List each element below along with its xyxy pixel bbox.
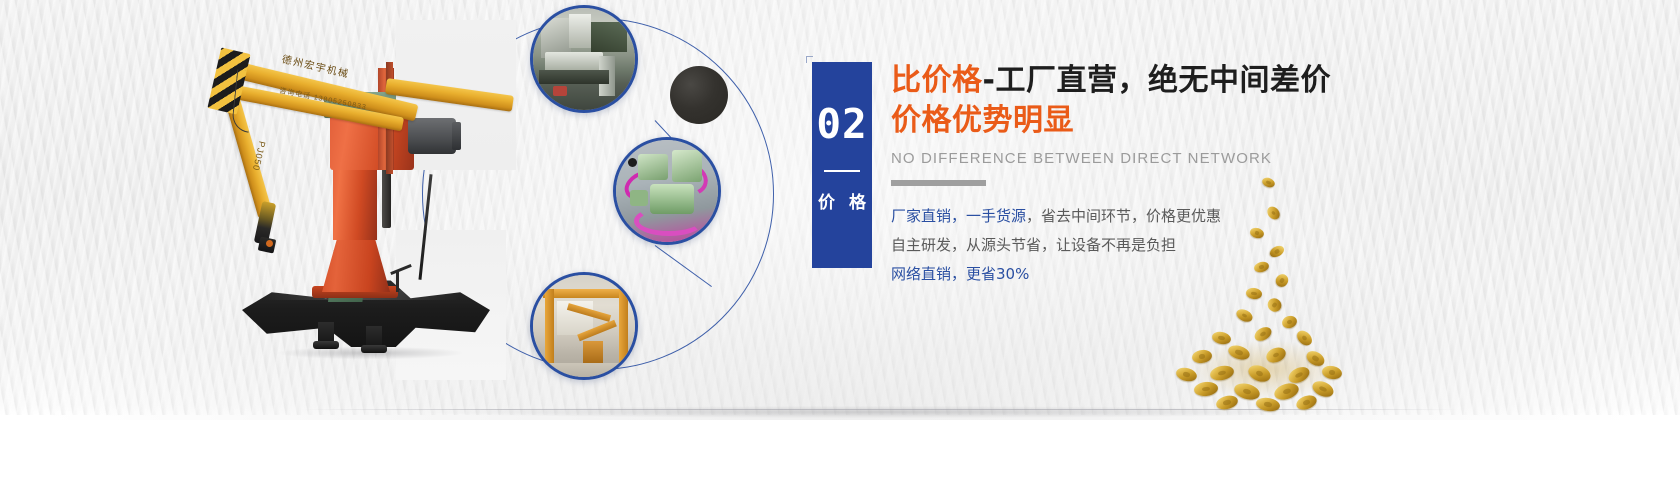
- gantry-beam: [543, 289, 631, 298]
- benefit-line: 厂家直销，一手货源，省去中间环节，价格更优惠: [891, 202, 1511, 231]
- lever-handle: [390, 264, 412, 275]
- benefit-blue-part: 网络直销，更省30%: [891, 265, 1029, 283]
- photo-bubble-installation: [530, 272, 638, 380]
- machine-part: [591, 22, 627, 52]
- photo-bubble-workshop: [530, 5, 638, 113]
- hose-part: [634, 206, 704, 236]
- gold-coin: [1245, 287, 1262, 300]
- valve-knob: [628, 158, 637, 167]
- valve-part: [672, 150, 702, 182]
- drive-motor: [408, 118, 456, 154]
- support-rod: [418, 174, 432, 280]
- benefit-line: 自主研发，从源头节省，让设备不再是负担: [891, 231, 1511, 260]
- crane-head: [583, 341, 603, 363]
- product-scene: 德州宏宇机械 咨询电话 13805250833 PJ050: [200, 0, 760, 420]
- valve-part: [630, 190, 648, 206]
- motor-cap: [452, 122, 461, 150]
- headline-primary: 比价格-工厂直营，绝无中间差价: [891, 64, 1511, 99]
- machine-part: [569, 14, 591, 48]
- machine-part: [553, 86, 567, 96]
- headline-highlight: 比价格: [891, 63, 983, 98]
- lever-stem: [396, 272, 399, 292]
- product-image-jib-crane: 德州宏宇机械 咨询电话 13805250833 PJ050: [200, 22, 530, 392]
- leveling-foot: [318, 322, 334, 344]
- black-sphere-accent: [670, 66, 728, 124]
- badge-label: 价 格: [812, 188, 872, 213]
- leveling-foot: [366, 326, 382, 348]
- benefit-blue-part: 厂家直销，一手货源: [891, 207, 1026, 225]
- headline-secondary: 价格优势明显: [891, 104, 1511, 139]
- photo-workshop-lathes: [533, 8, 635, 110]
- promo-banner: 德州宏宇机械 咨询电话 13805250833 PJ050: [0, 0, 1680, 483]
- photo-pneumatic-valve: [616, 140, 718, 242]
- machine-part: [539, 70, 609, 84]
- photo-installed-crane: [533, 275, 635, 377]
- floor-part: [533, 363, 638, 380]
- valve-part: [638, 154, 668, 180]
- headline-subtitle-english: NO DIFFERENCE BETWEEN DIRECT NETWORK: [891, 150, 1511, 167]
- benefit-gray-part: ，省去中间环节，价格更优惠: [1026, 207, 1221, 225]
- benefit-gray-part: 自主研发，从源头节省，让设备不再是负担: [891, 236, 1176, 254]
- benefit-line: 网络直销，更省30%: [891, 260, 1511, 289]
- benefit-list: 厂家直销，一手货源，省去中间环节，价格更优惠 自主研发，从源头节省，让设备不再是…: [891, 202, 1511, 289]
- badge-divider: [824, 170, 860, 172]
- column-base: [322, 234, 390, 292]
- gripper-indicator: [266, 240, 273, 247]
- photo-bubble-valve: [613, 137, 721, 245]
- section-divider-bar: [891, 180, 986, 186]
- step-number-badge: 02 价 格: [812, 62, 872, 268]
- headline-rest: -工厂直营，绝无中间差价: [983, 63, 1331, 98]
- promo-text-block: 比价格-工厂直营，绝无中间差价 价格优势明显 NO DIFFERENCE BET…: [891, 64, 1511, 289]
- badge-number: 02: [812, 104, 872, 145]
